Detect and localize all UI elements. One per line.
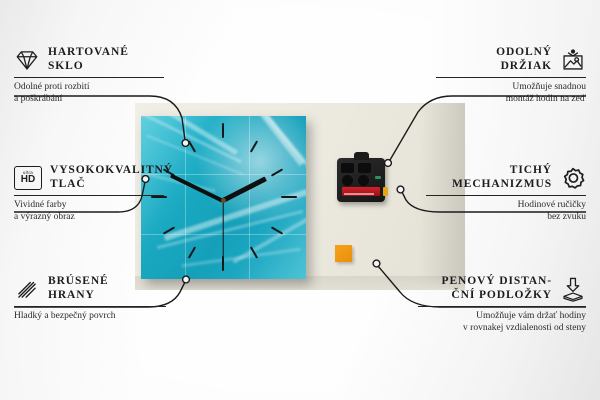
callout-subtitle: Umožňuje snadnou montáž hodin na zeď	[436, 82, 586, 105]
mechanism-knob-2	[358, 175, 369, 186]
callout-header: ultra HD VYSOKOKVALITNÝ TLAČ	[14, 164, 164, 191]
callout-header: HARTOVANÉ SKLO	[14, 46, 164, 73]
picture-hanger-icon	[560, 47, 586, 73]
callout-divider	[426, 195, 586, 196]
callout-title: PENOVÝ DISTAN- ČNÍ PODLOŽKY	[442, 275, 552, 302]
press-pad-icon	[560, 276, 586, 302]
callout-divider	[436, 77, 586, 78]
tick-3	[281, 196, 297, 198]
callout-title: TICHÝ MECHANIZMUS	[452, 164, 552, 191]
battery-label-strip	[344, 193, 374, 195]
clock-center-cap	[221, 198, 226, 203]
gear-icon	[560, 165, 586, 191]
callout-durable-hanger[interactable]: ODOLNÝ DRŽIAK Umožňuje snadnou montáž ho…	[436, 46, 586, 105]
callout-foam-spacer-pads[interactable]: PENOVÝ DISTAN- ČNÍ PODLOŽKY Umožňuje vám…	[418, 275, 586, 334]
callout-subtitle: Hladký a bezpečný povrch	[14, 311, 166, 323]
callout-subtitle: Odolné proti rozbití a poškrábání	[14, 82, 164, 105]
callout-title: VYSOKOKVALITNÝ TLAČ	[50, 164, 173, 191]
infographic-stage: HARTOVANÉ SKLO Odolné proti rozbití a po…	[0, 0, 600, 400]
tick-6	[222, 256, 224, 271]
callout-divider	[14, 77, 164, 78]
product-photo	[135, 103, 465, 290]
tick-12	[222, 123, 224, 138]
callout-divider	[14, 195, 164, 196]
callout-polished-edges[interactable]: BRÚSENÉ HRANY Hladký a bezpečný povrch	[14, 275, 166, 323]
mechanism-knob	[342, 175, 353, 186]
polished-edges-icon	[14, 276, 40, 302]
mechanism-hanger-tab	[354, 152, 369, 160]
callout-silent-mechanism[interactable]: TICHÝ MECHANIZMUS Hodinové ručičky bez z…	[426, 164, 586, 223]
callout-title: BRÚSENÉ HRANY	[48, 275, 109, 302]
callout-header: BRÚSENÉ HRANY	[14, 275, 166, 302]
callout-subtitle: Vividné farby a výrazný obraz	[14, 200, 164, 223]
diamond-icon	[14, 47, 40, 73]
callout-divider	[418, 306, 586, 307]
callout-hardened-glass[interactable]: HARTOVANÉ SKLO Odolné proti rozbití a po…	[14, 46, 164, 105]
callout-subtitle: Umožňuje vám držať hodiny v rovnakej vzd…	[418, 311, 586, 334]
ultra-hd-icon-main-text: HD	[21, 175, 35, 185]
callout-high-quality-print[interactable]: ultra HD VYSOKOKVALITNÝ TLAČ Vividné far…	[14, 164, 164, 223]
callout-divider	[14, 306, 166, 307]
second-hand	[222, 201, 223, 257]
ultra-hd-icon: ultra HD	[14, 166, 42, 190]
mechanism-led	[375, 176, 381, 179]
callout-header: PENOVÝ DISTAN- ČNÍ PODLOŽKY	[418, 275, 586, 302]
callout-header: ODOLNÝ DRŽIAK	[436, 46, 586, 73]
quartz-mechanism	[337, 158, 385, 202]
callout-title: ODOLNÝ DRŽIAK	[496, 46, 552, 73]
clock-face	[141, 116, 306, 279]
mechanism-body-square-2	[358, 163, 371, 173]
mechanism-body-square	[341, 163, 354, 173]
callout-header: TICHÝ MECHANIZMUS	[426, 164, 586, 191]
battery-positive-terminal	[383, 187, 388, 196]
foam-spacer-pad	[335, 245, 352, 262]
callout-subtitle: Hodinové ručičky bez zvuku	[426, 200, 586, 223]
callout-title: HARTOVANÉ SKLO	[48, 46, 129, 73]
